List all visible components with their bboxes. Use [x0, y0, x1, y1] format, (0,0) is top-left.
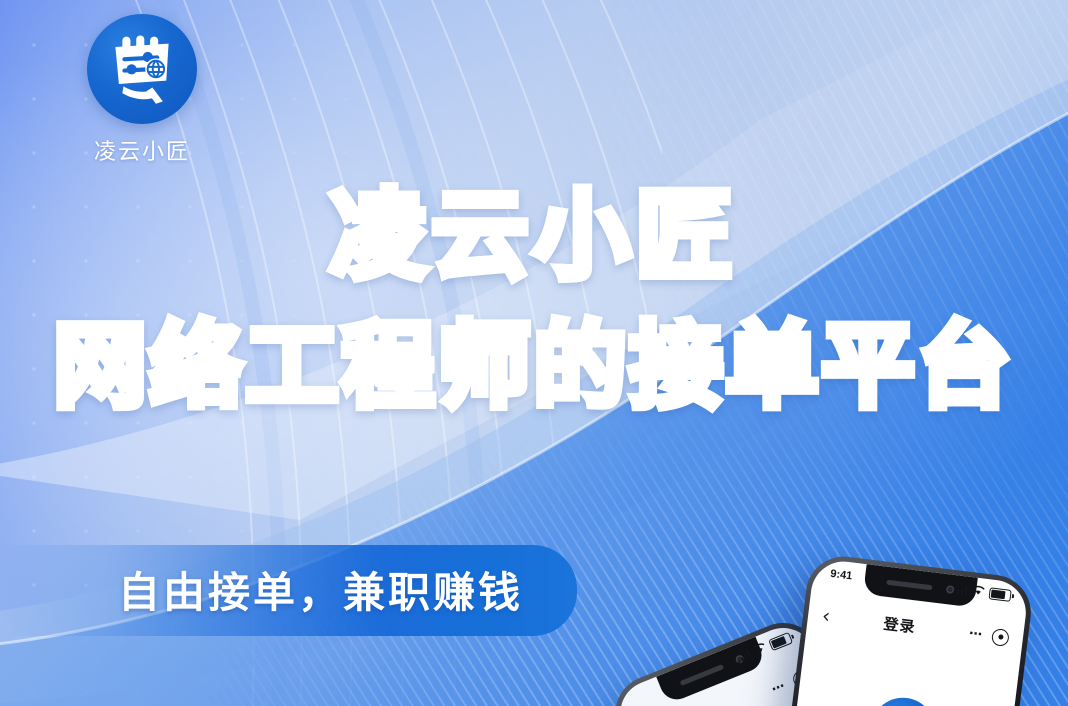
battery-icon [988, 587, 1011, 602]
brand-logo-badge [87, 14, 197, 124]
signal-bars-icon [952, 584, 968, 596]
tagline-pill-wrapper: 自由接单，兼职赚钱 [0, 545, 577, 636]
login-app-logo [867, 694, 938, 706]
page-title: 凌云小匠 [0, 186, 1068, 288]
more-dots-icon[interactable]: ⋯ [968, 625, 984, 643]
page-subtitle: 网络工程师的接单平台 [0, 318, 1068, 416]
tagline-pill: 自由接单，兼职赚钱 [0, 545, 577, 636]
login-page-title: 登录 [829, 606, 971, 644]
brand-name-label: 凌云小匠 [94, 134, 190, 166]
clipboard-slider-globe-icon [105, 32, 179, 106]
phone-right-screen: 9:41 ‹ 登录 ⋯ [763, 558, 1030, 706]
target-circle-icon[interactable] [991, 627, 1010, 646]
battery-icon [768, 632, 793, 651]
wifi-icon [970, 584, 986, 600]
headline-block: 凌云小匠 网络工程师的接单平台 [0, 186, 1068, 415]
brand-logo-block: 凌云小匠 [62, 14, 222, 166]
promo-poster: 凌云小匠 凌云小匠 网络工程师的接单平台 自由接单，兼职赚钱 [0, 0, 1068, 706]
phone-right-navbar: ‹ 登录 ⋯ [806, 594, 1025, 660]
status-time: 9:41 [830, 568, 853, 583]
more-dots-icon[interactable]: ⋯ [769, 678, 788, 698]
